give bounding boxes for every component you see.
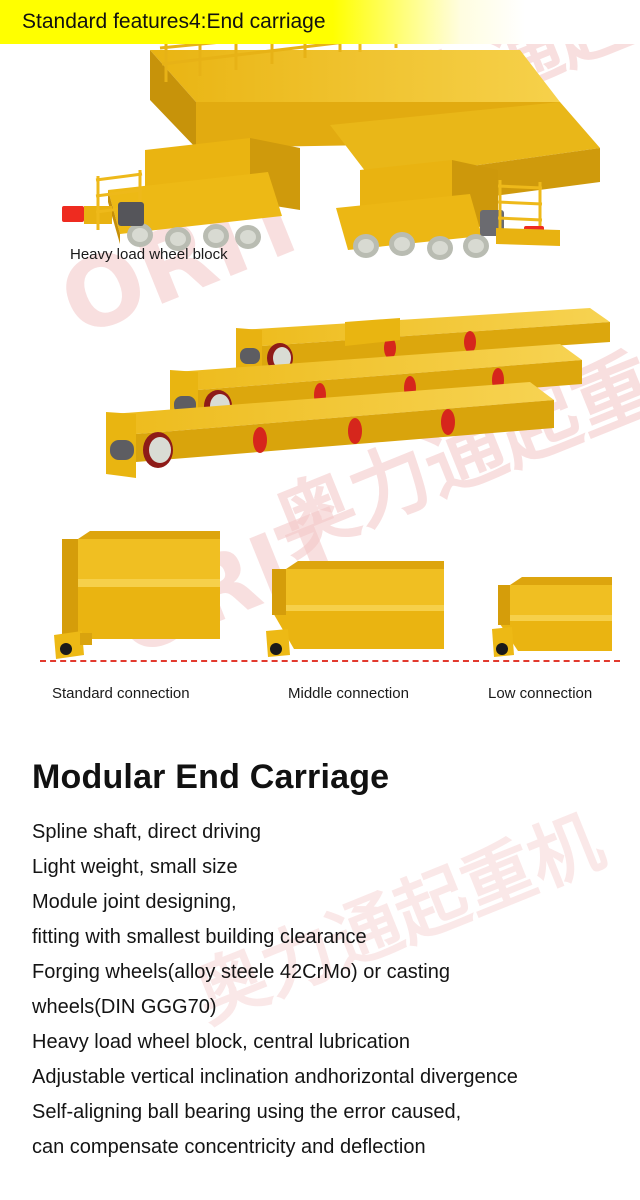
caption-standard-connection: Standard connection	[52, 685, 190, 703]
feature-line: Module joint designing,	[32, 885, 640, 920]
feature-line: can compensate concentricity and deflect…	[32, 1130, 640, 1165]
connection-types-illustration	[40, 525, 620, 665]
standard-connection-figure	[54, 531, 220, 659]
feature-line: Light weight, small size	[32, 850, 640, 885]
illustration-stage: Heavy load wheel block	[0, 0, 640, 760]
page-title: Standard features4:End carriage	[22, 9, 326, 35]
section-heading: Modular End Carriage	[32, 755, 640, 799]
crane-end-carriage-illustration: Heavy load wheel block	[0, 30, 640, 260]
caption-middle-connection: Middle connection	[288, 685, 409, 703]
beams-svg	[90, 300, 610, 500]
feature-line: wheels(DIN GGG70)	[32, 990, 640, 1025]
feature-line: Self-aligning ball bearing using the err…	[32, 1095, 640, 1130]
connections-svg	[40, 525, 620, 665]
feature-line: Heavy load wheel block, central lubricat…	[32, 1025, 640, 1060]
feature-line: Adjustable vertical inclination andhoriz…	[32, 1060, 640, 1095]
baseline-divider	[40, 660, 620, 662]
modular-beams-illustration	[90, 300, 610, 500]
caption-low-connection: Low connection	[488, 685, 592, 703]
feature-line: Forging wheels(alloy steele 42CrMo) or c…	[32, 955, 640, 990]
crane-svg	[0, 30, 640, 260]
feature-line: fitting with smallest building clearance	[32, 920, 640, 955]
description-block: Modular End Carriage Spline shaft, direc…	[0, 755, 640, 1165]
caption-heavy-load-wheel-block: Heavy load wheel block	[70, 246, 228, 264]
feature-line: Spline shaft, direct driving	[32, 815, 640, 850]
low-connection-figure	[492, 577, 612, 657]
middle-connection-figure	[266, 561, 444, 657]
header-banner: Standard features4:End carriage	[0, 0, 640, 44]
